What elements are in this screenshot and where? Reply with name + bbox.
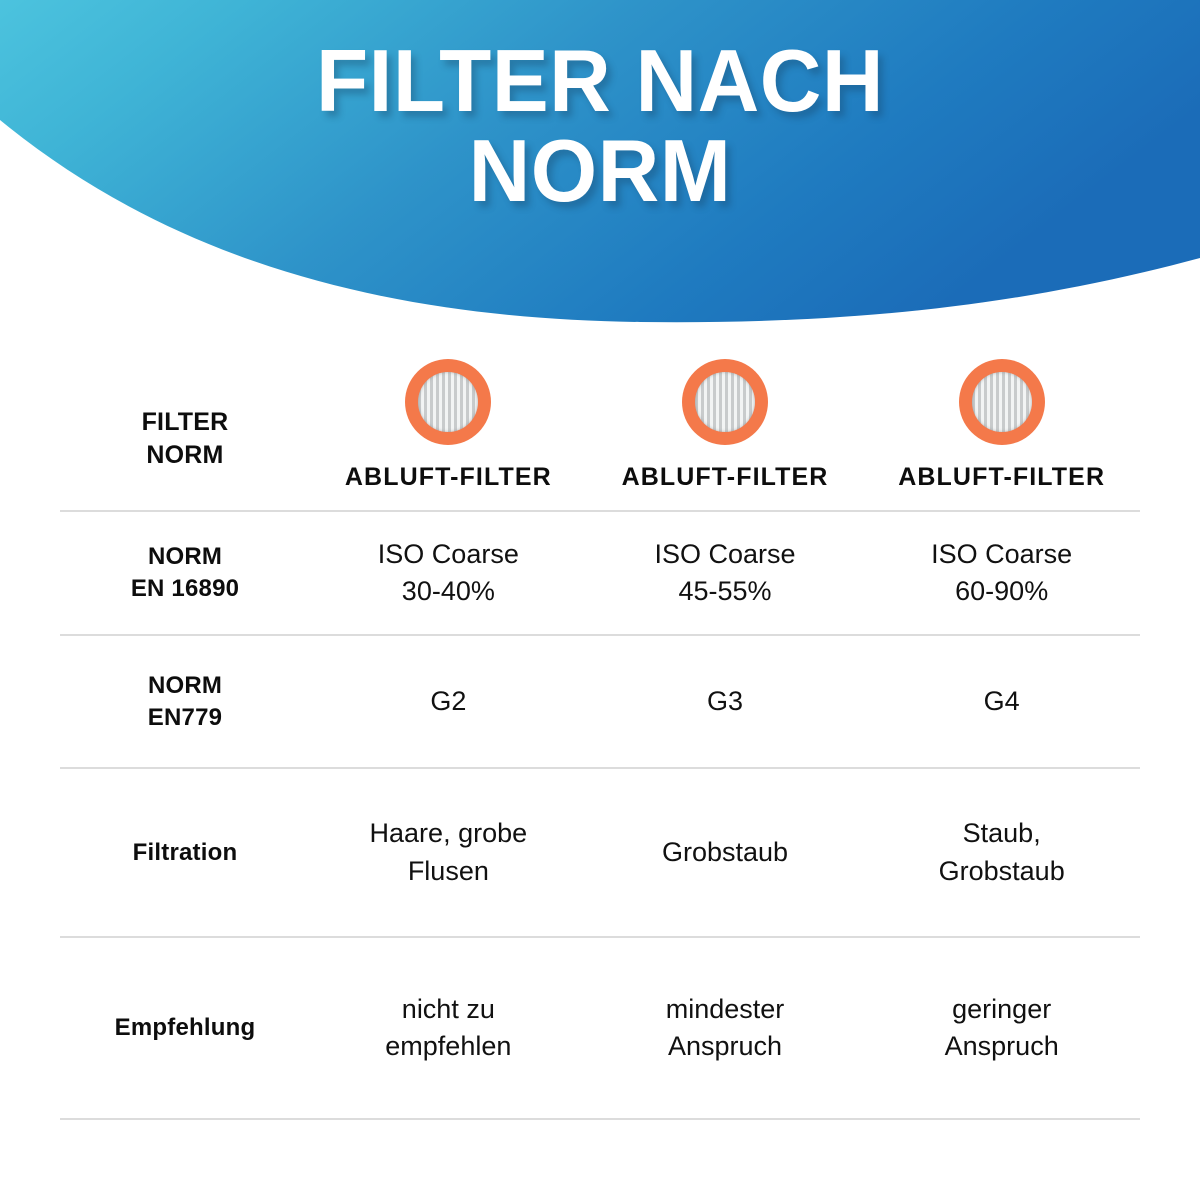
table-header-row: FILTER NORM ABLUFT-FILTER ABLUFT-FILTER …	[60, 330, 1140, 510]
table-row: NORM EN 16890 ISO Coarse 30-40% ISO Coar…	[60, 512, 1140, 634]
filter-ring-icon	[682, 359, 768, 445]
column-header-3: ABLUFT-FILTER	[863, 359, 1140, 492]
column-title: ABLUFT-FILTER	[345, 463, 552, 492]
row-divider	[60, 1118, 1140, 1120]
table-cell: mindester Anspruch	[587, 991, 864, 1066]
table-cell: G4	[863, 683, 1140, 720]
row-label: Empfehlung	[60, 1012, 310, 1044]
table-cell: G2	[310, 683, 587, 720]
table-cell: ISO Coarse 30-40%	[310, 536, 587, 611]
table-row: Filtration Haare, grobe Flusen Grobstaub…	[60, 769, 1140, 936]
row-label: NORM EN779	[60, 670, 310, 733]
table-cell: nicht zu empfehlen	[310, 991, 587, 1066]
table-cell: geringer Anspruch	[863, 991, 1140, 1066]
column-title: ABLUFT-FILTER	[898, 463, 1105, 492]
column-header-1: ABLUFT-FILTER	[310, 359, 587, 492]
page-title: FILTER NACH NORM	[18, 36, 1182, 216]
table-row: Empfehlung nicht zu empfehlen mindester …	[60, 938, 1140, 1118]
table-cell: Staub, Grobstaub	[863, 815, 1140, 890]
table-cell: G3	[587, 683, 864, 720]
header-banner: FILTER NACH NORM	[0, 0, 1200, 330]
filter-ring-icon	[959, 359, 1045, 445]
row-header-filter-norm: FILTER NORM	[60, 406, 310, 492]
column-title: ABLUFT-FILTER	[622, 463, 829, 492]
row-label: Filtration	[60, 837, 310, 869]
filter-ring-icon	[405, 359, 491, 445]
table-cell: ISO Coarse 45-55%	[587, 536, 864, 611]
filter-pleats-icon	[418, 372, 478, 432]
table-cell: Grobstaub	[587, 834, 864, 871]
filter-pleats-icon	[972, 372, 1032, 432]
row-label: NORM EN 16890	[60, 541, 310, 604]
filter-standards-table: FILTER NORM ABLUFT-FILTER ABLUFT-FILTER …	[0, 330, 1200, 1120]
table-cell: ISO Coarse 60-90%	[863, 536, 1140, 611]
table-cell: Haare, grobe Flusen	[310, 815, 587, 890]
table-row: NORM EN779 G2 G3 G4	[60, 636, 1140, 767]
column-header-2: ABLUFT-FILTER	[587, 359, 864, 492]
filter-pleats-icon	[695, 372, 755, 432]
